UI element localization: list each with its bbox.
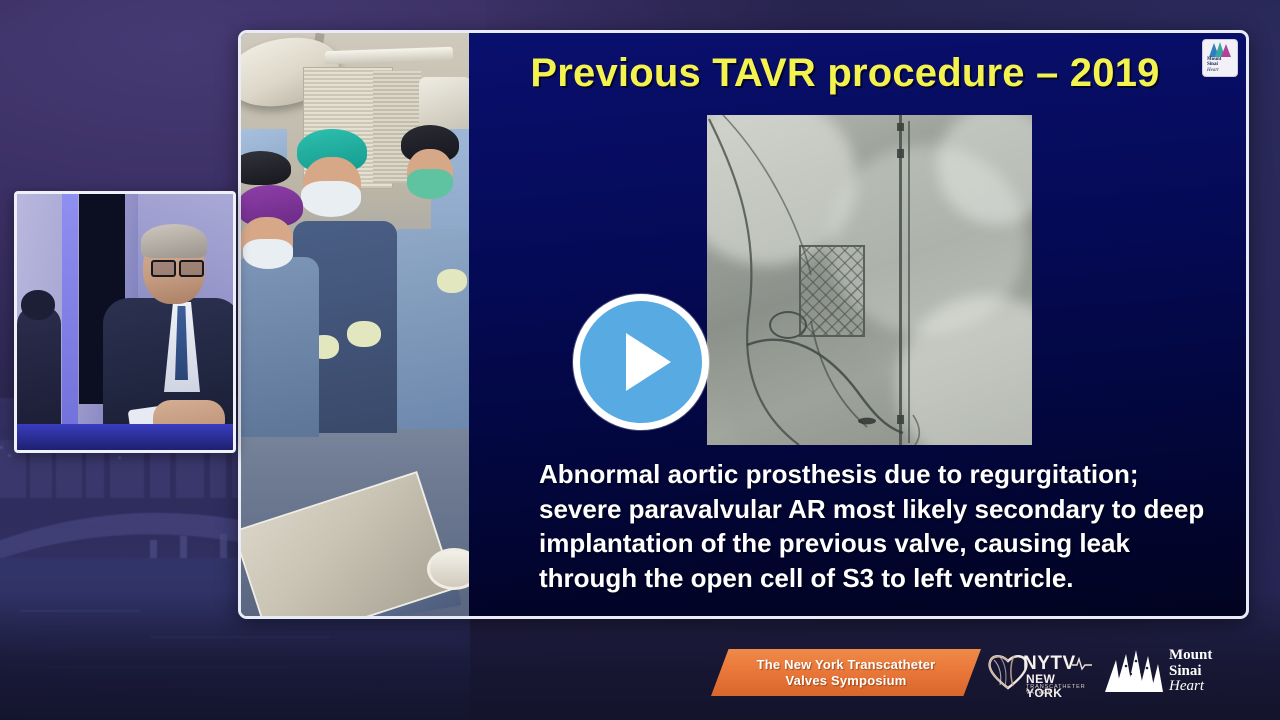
symposium-banner-line1: The New York Transcatheter — [757, 657, 936, 673]
symposium-banner: The New York Transcatheter Valves Sympos… — [711, 649, 981, 696]
play-button[interactable] — [573, 294, 709, 430]
slide-logo-line3: Heart — [1203, 68, 1237, 73]
fluoroscopy-catheter-paths — [707, 115, 1032, 445]
slide-mount-sinai-logo: Mount Sinai Heart — [1202, 39, 1238, 77]
play-triangle-icon — [626, 333, 671, 391]
slide-body-line-3: implantation of the previous valve, caus… — [539, 526, 1211, 561]
mount-sinai-line3: Heart — [1169, 679, 1212, 695]
slide-body-line-1: Abnormal aortic prosthesis due to regurg… — [539, 457, 1211, 492]
fluoroscopy-image — [707, 115, 1032, 445]
slide-body-line-4: through the open cell of S3 to left vent… — [539, 561, 1211, 596]
pip-desk-edge — [17, 424, 233, 450]
mount-sinai-heart-logo: Mount Sinai Heart — [1103, 646, 1228, 696]
mount-sinai-line2: Sinai — [1169, 664, 1212, 680]
mount-sinai-line1: Mount — [1169, 648, 1212, 664]
speaker-hair — [141, 224, 207, 258]
slide-body-text: Abnormal aortic prosthesis due to regurg… — [539, 457, 1211, 595]
symposium-banner-line2: Valves Symposium — [786, 673, 907, 689]
pip-light-stripe — [62, 194, 78, 450]
pip-secondary-person-head — [21, 290, 55, 320]
nytv-logo: NYTV NEW YORK TRANSCATHETER VALVES — [986, 649, 1090, 695]
operating-room-photo — [241, 33, 469, 616]
nytv-logo-tagline: TRANSCATHETER VALVES — [1026, 684, 1090, 696]
video-player-stage: Mount Sinai Heart Previous TAVR procedur… — [0, 0, 1280, 720]
speaker-video-thumbnail[interactable] — [14, 191, 236, 453]
speaker-glasses-icon — [151, 260, 203, 273]
presentation-slide: Mount Sinai Heart Previous TAVR procedur… — [238, 30, 1249, 619]
slide-title: Previous TAVR procedure – 2019 — [485, 51, 1205, 96]
mount-sinai-mountain-icon — [1207, 42, 1233, 57]
ecg-pulse-icon — [1072, 657, 1092, 671]
mount-sinai-text: Mount Sinai Heart — [1169, 648, 1212, 695]
slide-body-line-2: severe paravalvular AR most likely secon… — [539, 492, 1211, 527]
footer-branding-bar: The New York Transcatheter Valves Sympos… — [0, 628, 1280, 720]
mount-sinai-mountain-icon — [1103, 650, 1165, 692]
